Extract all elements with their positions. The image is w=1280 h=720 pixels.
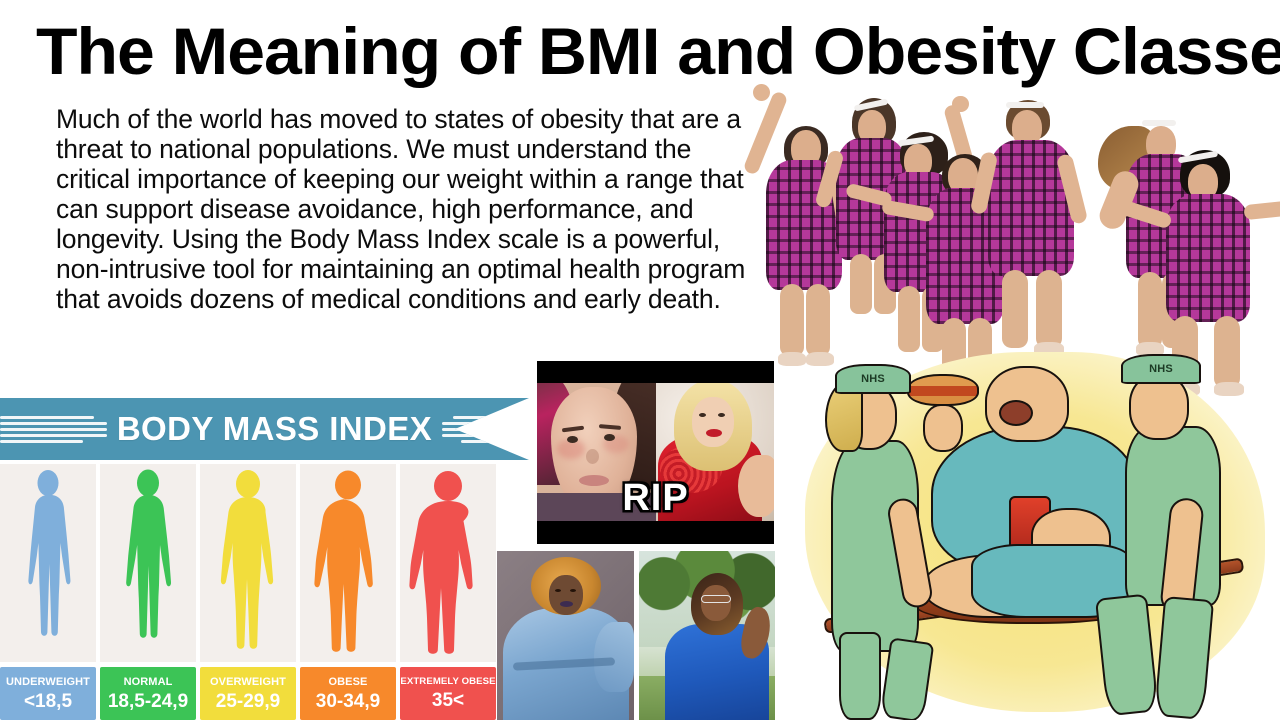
body-silhouette-icon	[18, 468, 78, 656]
bmi-label-overweight: OVERWEIGHT 25-29,9	[200, 667, 296, 720]
slide-canvas: The Meaning of BMI and Obesity Classes 1…	[0, 0, 1280, 720]
bmi-column-normal: NORMAL 18,5-24,9	[100, 464, 196, 720]
nurse-left-leg-back	[839, 632, 881, 720]
rip-collage-image: RIP	[537, 361, 774, 544]
bmi-infographic: BODY MASS INDEX UNDERWE	[0, 398, 540, 720]
figure-panel-overweight	[200, 464, 296, 662]
bmi-banner: BODY MASS INDEX	[0, 398, 529, 460]
patient-hand-with-burger	[923, 404, 963, 452]
banner-lines-left-icon	[0, 414, 107, 444]
body-silhouette-icon	[210, 468, 286, 656]
figure-panel-underweight	[0, 464, 96, 662]
bmi-banner-title: BODY MASS INDEX	[117, 410, 432, 448]
nurse-left-nhs-cap: NHS	[835, 364, 911, 394]
bmi-column-overweight: OVERWEIGHT 25-29,9	[200, 464, 296, 720]
patient-open-mouth	[999, 400, 1033, 426]
banner-lines-right-icon	[442, 414, 529, 444]
bmi-column-obese: OBESE 30-34,9	[300, 464, 396, 720]
body-silhouette-icon	[115, 468, 181, 656]
page-title: The Meaning of BMI and Obesity Classes 1…	[36, 16, 1280, 88]
figure-panel-normal	[100, 464, 196, 662]
photo-woman-blue-dress-outdoors	[639, 551, 775, 720]
bmi-category-columns: UNDERWEIGHT <18,5 NORMAL 18,5-24,9	[0, 464, 540, 720]
body-paragraph: Much of the world has moved to states of…	[56, 104, 746, 314]
photo-woman-denim-dress	[497, 551, 634, 720]
nurse-right-leg-front	[1154, 596, 1214, 720]
burger-icon	[907, 374, 979, 406]
figure-panel-obese	[300, 464, 396, 662]
nhs-stretcher-cartoon: NHS NHS	[795, 348, 1280, 720]
bmi-label-extremely-obese: EXTREMELY OBESE 35<	[400, 667, 496, 720]
figure-panel-extremely-obese	[400, 464, 496, 662]
bmi-column-extremely-obese: EXTREMELY OBESE 35<	[400, 464, 496, 720]
bmi-label-normal: NORMAL 18,5-24,9	[100, 667, 196, 720]
bmi-column-underweight: UNDERWEIGHT <18,5	[0, 464, 96, 720]
nurse-right-nhs-cap: NHS	[1121, 354, 1201, 384]
bmi-label-obese: OBESE 30-34,9	[300, 667, 396, 720]
bmi-label-underweight: UNDERWEIGHT <18,5	[0, 667, 96, 720]
rip-caption: RIP	[537, 477, 774, 520]
body-silhouette-icon	[401, 468, 495, 656]
body-silhouette-icon	[305, 468, 391, 656]
